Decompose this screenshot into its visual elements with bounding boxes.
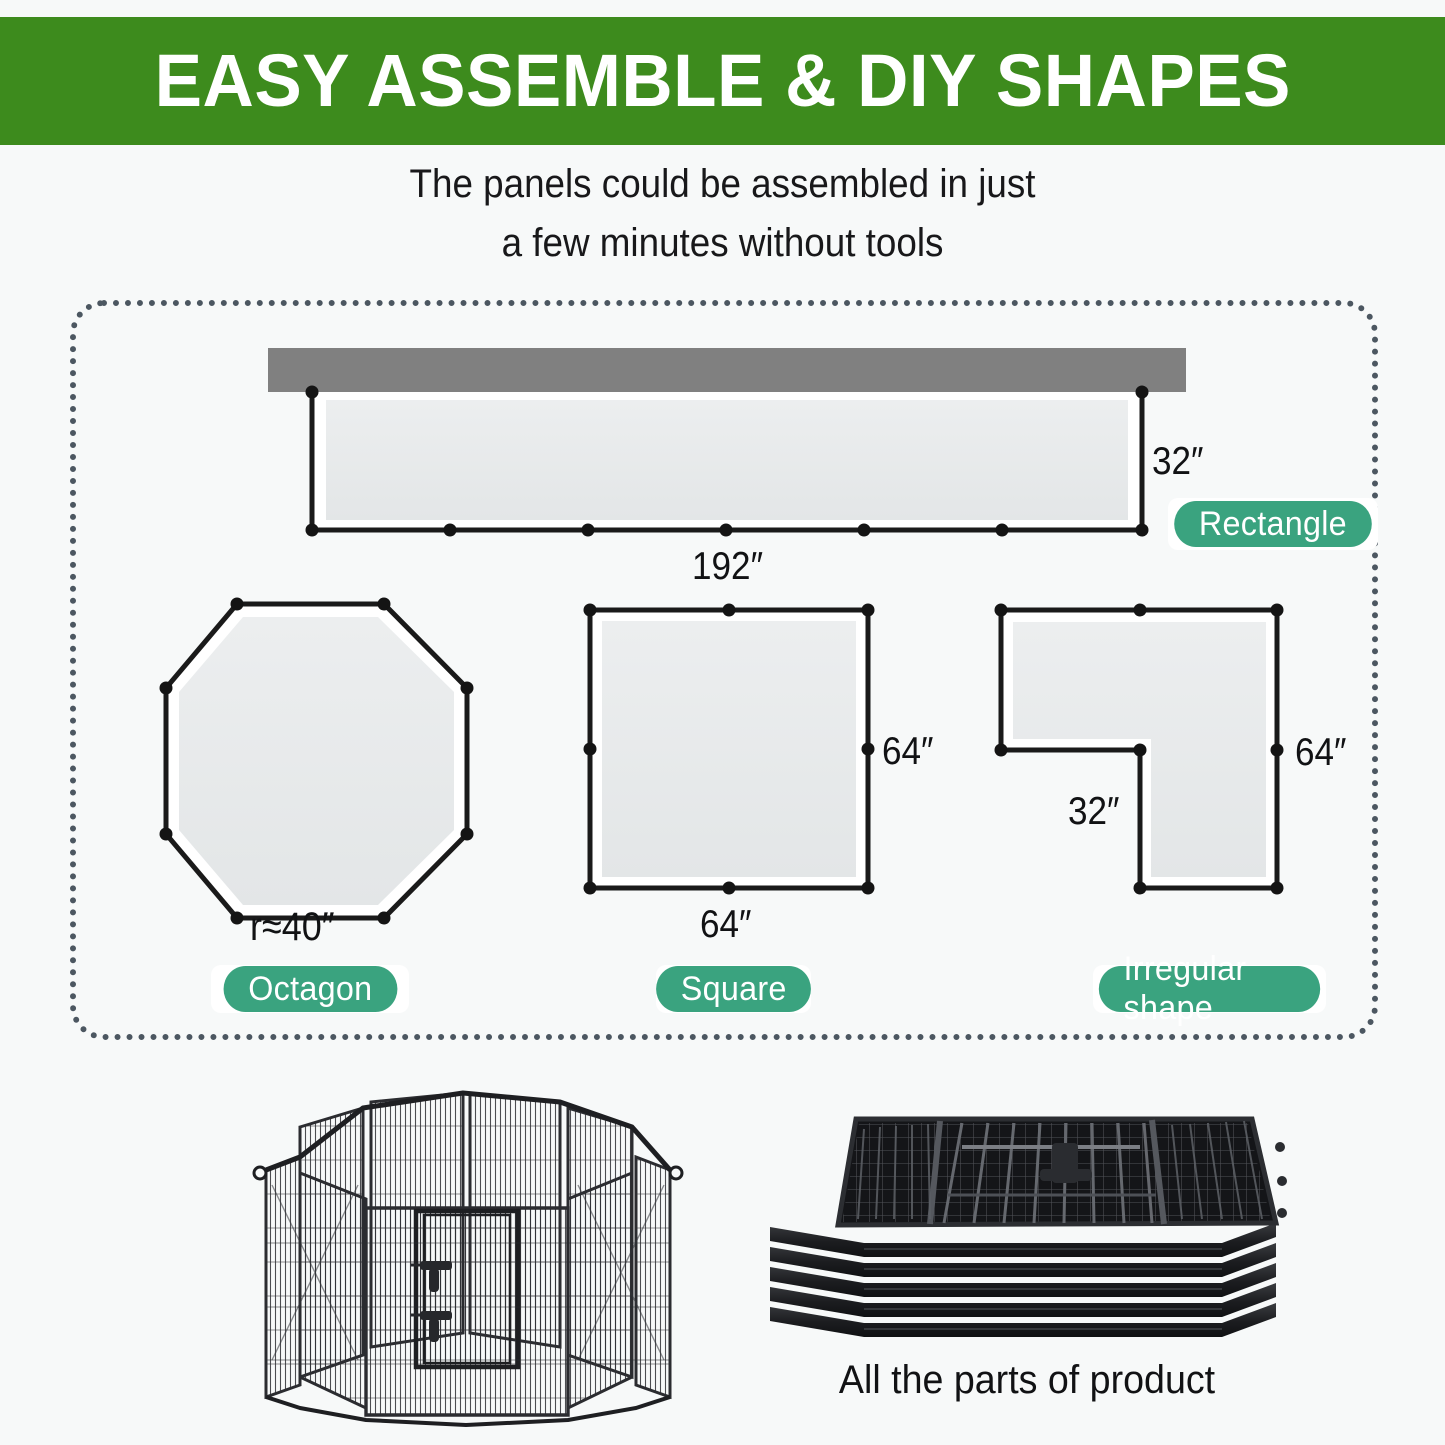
badge-rectangle[interactable]: Rectangle [1174, 501, 1371, 547]
badge-wrap-square: Square [656, 965, 811, 1013]
badge-wrap-rectangle: Rectangle [1168, 498, 1378, 550]
subtitle-block: The panels could be assembled in just a … [0, 155, 1445, 273]
dim-rectangle-height: 32″ [1152, 440, 1203, 484]
dim-square-width: 64″ [700, 903, 751, 947]
subtitle-line-1: The panels could be assembled in just [58, 155, 1387, 214]
page-title: EASY ASSEMBLE & DIY SHAPES [154, 44, 1290, 118]
subtitle-line-2: a few minutes without tools [58, 214, 1387, 273]
dim-square-height: 64″ [882, 730, 933, 774]
dim-rectangle-width: 192″ [692, 545, 763, 589]
photo-assembled-playpen [238, 1075, 698, 1445]
badge-wrap-octagon: Octagon [211, 965, 409, 1013]
badge-octagon[interactable]: Octagon [223, 966, 397, 1012]
header-banner: EASY ASSEMBLE & DIY SHAPES [0, 17, 1445, 145]
badge-wrap-irregular: Irregular shape [1093, 965, 1326, 1013]
dim-octagon-radius: r≈40″ [250, 905, 335, 950]
dim-irregular-notch: 32″ [1068, 790, 1119, 834]
badge-irregular[interactable]: Irregular shape [1099, 966, 1320, 1012]
dim-irregular-height: 64″ [1295, 731, 1346, 775]
photo-folded-panel-stack [752, 1085, 1292, 1350]
caption-folded-panel-stack: All the parts of product [806, 1358, 1248, 1403]
badge-square[interactable]: Square [656, 966, 811, 1012]
infographic-root: EASY ASSEMBLE & DIY SHAPES The panels co… [0, 0, 1445, 1445]
